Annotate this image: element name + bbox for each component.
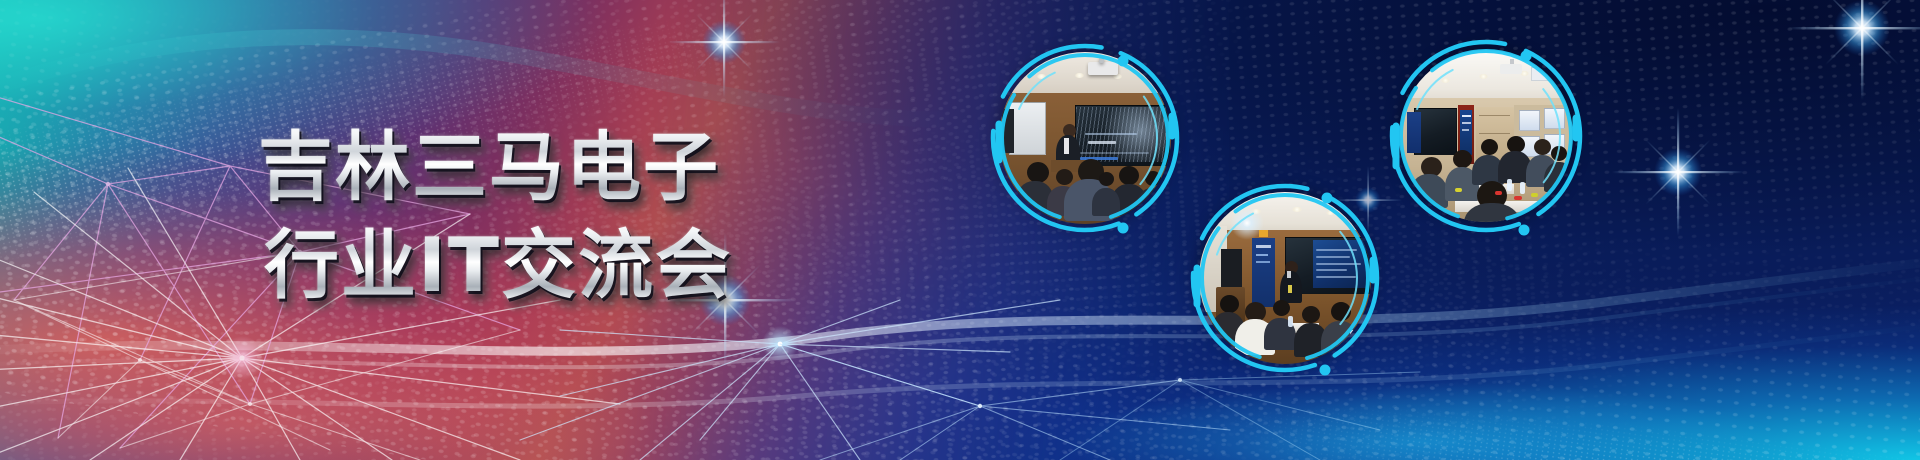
photo-2-tech-ring (1175, 168, 1395, 388)
photo-circle-1 (975, 28, 1195, 248)
photo-3-tech-ring (1374, 24, 1598, 248)
title-line-primary: 吉林三马电子 (258, 118, 818, 216)
photo-1-tech-ring (975, 28, 1195, 248)
star-flare-1 (667, 0, 780, 99)
star-flare-3 (1788, 0, 1920, 102)
star-flare-4 (1612, 107, 1744, 237)
banner-title: 吉林三马电子 行业IT交流会 (258, 118, 818, 314)
photo-circle-3 (1374, 24, 1598, 248)
photo-circle-2 (1175, 168, 1395, 388)
title-line-secondary: 行业IT交流会 (264, 216, 818, 314)
promo-banner: 吉林三马电子 行业IT交流会 (0, 0, 1920, 460)
